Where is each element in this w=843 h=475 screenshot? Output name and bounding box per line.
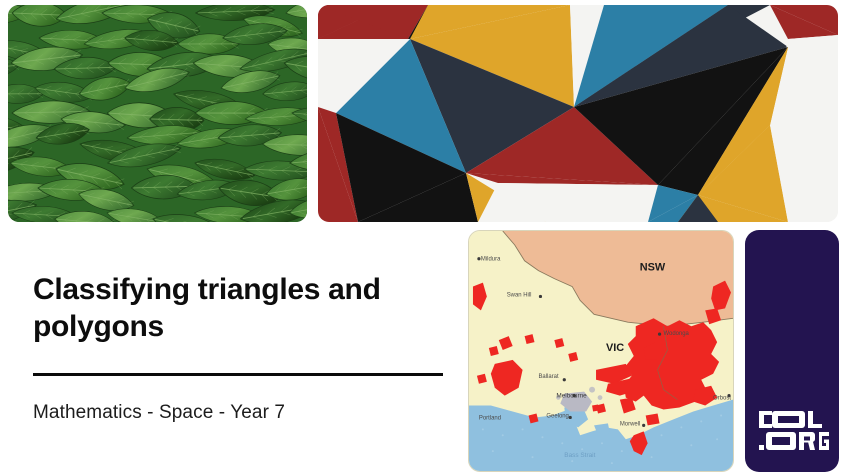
map-label: Bass Strait (564, 452, 595, 459)
leaves-illustration (8, 5, 307, 222)
brand-panel (745, 230, 839, 472)
map-label: Orbost (713, 396, 731, 402)
title-block: Classifying triangles and polygons Mathe… (33, 272, 445, 424)
title-divider (33, 373, 443, 376)
map-label: VIC (606, 342, 624, 354)
map-label: Swan Hill (507, 292, 532, 298)
map-illustration: NSWVICMilduraSwan HillWodongaBallaratMel… (469, 231, 733, 471)
cool-org-logo (757, 409, 829, 453)
hero-image-row (0, 0, 843, 228)
map-label: Melbourne (556, 393, 587, 400)
cool-org-logo-mark (757, 409, 829, 453)
subject-subtitle: Mathematics - Space - Year 7 (33, 402, 445, 424)
map-label: Wodonga (664, 331, 690, 337)
map-label: Morwell (620, 421, 640, 427)
page-title: Classifying triangles and polygons (33, 272, 445, 345)
triangles-image (318, 5, 838, 222)
leaves-image (8, 5, 307, 222)
triangles-illustration (318, 5, 838, 222)
map-label: Portland (479, 415, 501, 421)
map-label: NSW (640, 262, 666, 274)
map-label: Mildura (481, 257, 501, 263)
map-label: Ballarat (538, 374, 558, 380)
map-label: Geelong (546, 413, 568, 419)
victoria-bushfire-map: NSWVICMilduraSwan HillWodongaBallaratMel… (468, 230, 734, 472)
